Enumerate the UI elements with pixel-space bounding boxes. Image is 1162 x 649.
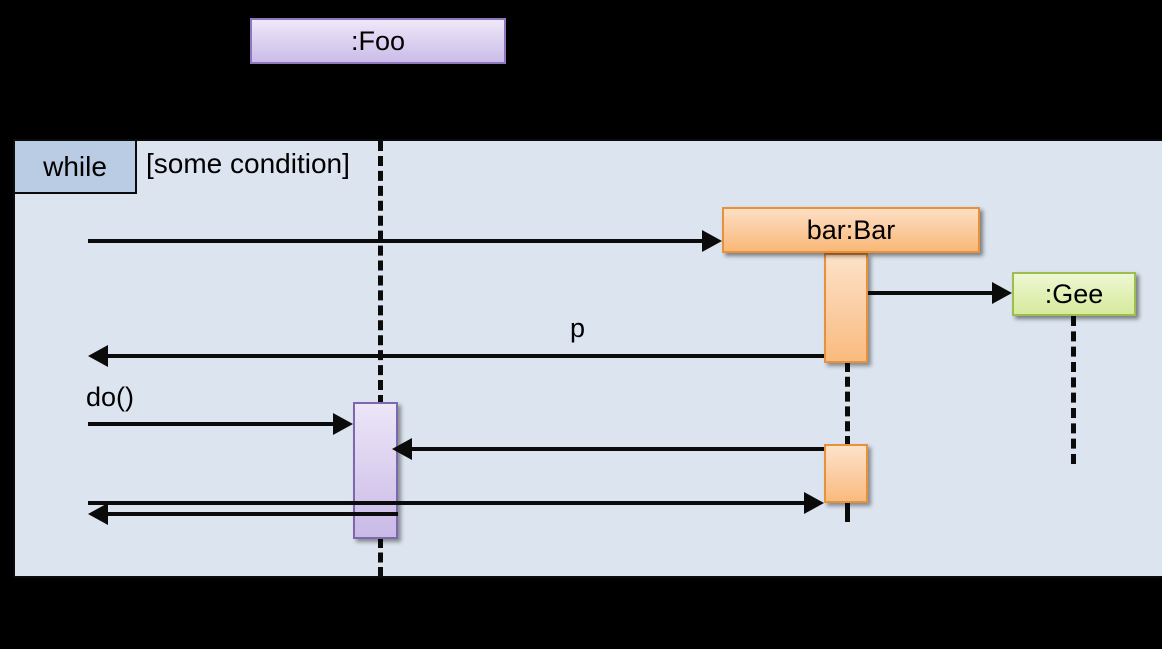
message-line-5[interactable]	[412, 447, 824, 451]
lifeline-label-foo: :Foo	[351, 26, 405, 57]
fragment-operator-label: while	[43, 151, 107, 183]
message-line-1[interactable]	[88, 239, 702, 243]
message-label-do: do()	[86, 382, 134, 413]
diagram-canvas: while [some condition] p do() :Foo bar:B…	[0, 0, 1162, 649]
arrowhead-right-icon	[702, 230, 722, 252]
message-line-3-return-p[interactable]	[108, 354, 824, 358]
lifeline-box-bar[interactable]: bar:Bar	[722, 207, 980, 253]
arrowhead-left-icon	[392, 438, 412, 460]
lifeline-label-bar: bar:Bar	[807, 215, 896, 246]
activation-bar-foo[interactable]	[353, 402, 398, 539]
message-line-6[interactable]	[88, 501, 804, 505]
fragment-operator-tag[interactable]: while	[13, 139, 137, 194]
lifeline-foo-upper	[378, 141, 383, 405]
message-label-p: p	[570, 313, 585, 344]
lifeline-label-gee: :Gee	[1045, 279, 1104, 310]
activation-bar-bar-1[interactable]	[824, 253, 868, 363]
arrowhead-right-icon	[992, 282, 1012, 304]
lifeline-gee	[1071, 316, 1076, 464]
arrowhead-right-icon	[333, 413, 353, 435]
arrowhead-right-icon	[804, 492, 824, 514]
message-line-4-do[interactable]	[88, 422, 333, 426]
arrowhead-left-icon	[88, 503, 108, 525]
lifeline-bar-lower	[845, 502, 850, 522]
message-line-7[interactable]	[108, 512, 398, 516]
arrowhead-left-icon	[88, 345, 108, 367]
lifeline-bar-upper	[845, 362, 850, 446]
lifeline-foo-lower	[378, 538, 383, 577]
fragment-guard-condition: [some condition]	[146, 148, 350, 180]
message-line-2[interactable]	[868, 291, 992, 295]
lifeline-box-gee[interactable]: :Gee	[1012, 272, 1136, 316]
activation-bar-bar-2[interactable]	[824, 444, 868, 503]
lifeline-box-foo[interactable]: :Foo	[250, 18, 506, 64]
